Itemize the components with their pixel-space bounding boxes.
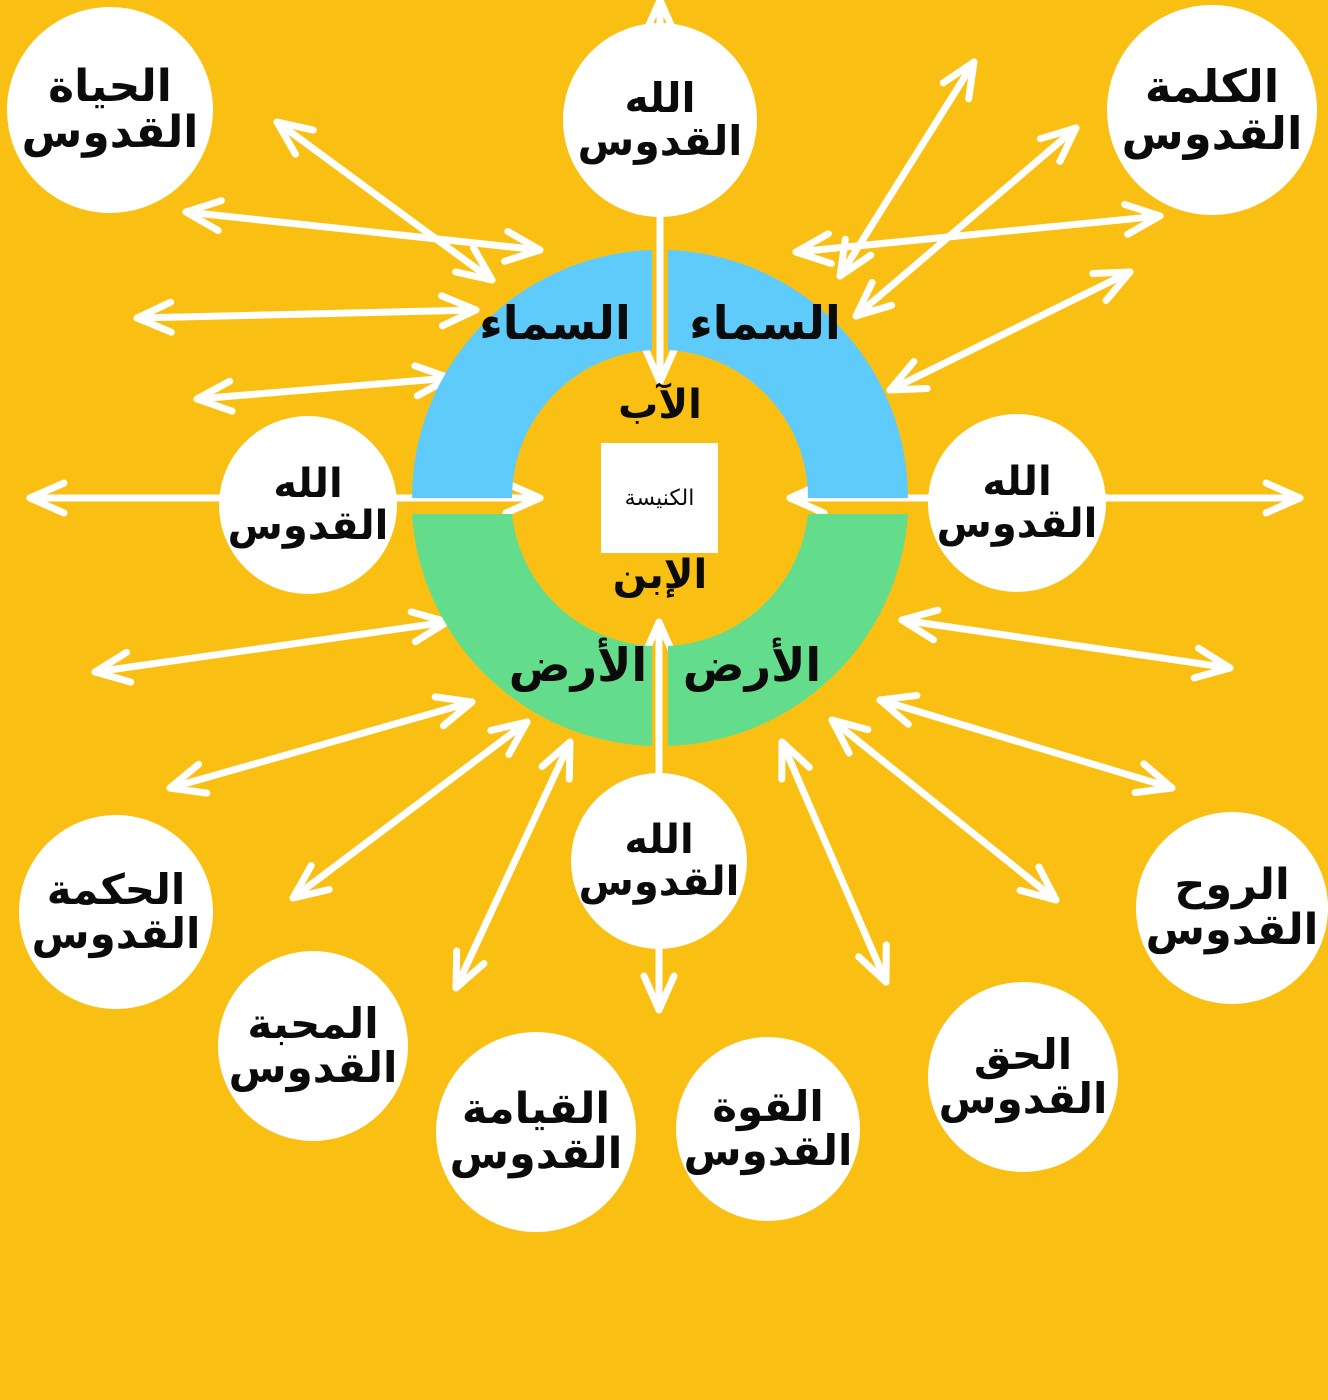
arrow-ne-low2 xyxy=(890,272,1130,390)
node-circle-bottom-right-mid[interactable]: الحقالقدوس xyxy=(928,982,1118,1172)
node-circle-bottom-left-mid[interactable]: المحبةالقدوس xyxy=(218,951,408,1141)
arrow-se-upper xyxy=(902,610,1230,678)
node-label-line2: القدوس xyxy=(228,505,389,547)
node-label-line1: الكلمة xyxy=(1145,63,1279,110)
node-circle-bottom-right-far[interactable]: الروحالقدوس xyxy=(1136,812,1328,1004)
node-label-line1: الله xyxy=(273,463,342,505)
node-label-line2: القدوس xyxy=(450,1132,623,1177)
earth-label-right: الأرض xyxy=(672,638,832,692)
arrow-sw-low xyxy=(293,722,527,898)
father-label: الآب xyxy=(570,382,750,428)
church-label: الكنيسة xyxy=(625,486,695,511)
node-circle-right[interactable]: اللهالقدوس xyxy=(928,414,1106,592)
node-circle-left[interactable]: اللهالقدوس xyxy=(219,416,397,594)
node-label-line2: القدوس xyxy=(1122,110,1303,157)
node-label-line1: الله xyxy=(624,77,695,120)
node-label-line2: القدوس xyxy=(578,120,743,163)
node-label-line1: الحق xyxy=(974,1033,1072,1077)
node-label-line2: القدوس xyxy=(22,110,199,156)
diagram-canvas: السماء السماء الأرض الأرض الآب الإبن الك… xyxy=(0,0,1328,1400)
node-label-line2: القدوس xyxy=(937,503,1098,545)
church-box[interactable]: الكنيسة xyxy=(601,443,718,553)
node-circle-bottom-center-l[interactable]: القيامةالقدوس xyxy=(436,1032,636,1232)
son-label: الإبن xyxy=(570,552,750,598)
node-label-line1: الروح xyxy=(1174,863,1289,908)
node-circle-top-right[interactable]: الكلمةالقدوس xyxy=(1107,5,1317,215)
node-label-line2: القدوس xyxy=(579,861,740,903)
node-label-line1: الله xyxy=(982,461,1051,503)
node-circle-bottom-center-r[interactable]: القوةالقدوس xyxy=(676,1037,860,1221)
node-label-line1: القوة xyxy=(712,1085,824,1129)
node-circle-top-center[interactable]: اللهالقدوس xyxy=(563,23,757,217)
node-label-line1: المحبة xyxy=(247,1002,378,1046)
heaven-label-left: السماء xyxy=(470,296,640,350)
node-circle-bottom-center[interactable]: اللهالقدوس xyxy=(571,773,747,949)
arrow-se-low2 xyxy=(782,742,886,982)
node-circle-top-left[interactable]: الحياةالقدوس xyxy=(7,7,213,213)
arrow-se-mid xyxy=(880,695,1172,792)
node-circle-bottom-left-far[interactable]: الحكمةالقدوس xyxy=(19,815,213,1009)
node-label-line1: الحكمة xyxy=(47,868,186,912)
node-label-line2: القدوس xyxy=(939,1077,1108,1121)
arrow-sw-low2 xyxy=(456,742,570,988)
node-label-line1: الله xyxy=(624,819,693,861)
node-label-line2: القدوس xyxy=(1146,908,1319,953)
node-label-line2: القدوس xyxy=(684,1129,853,1173)
arrow-sw-upper xyxy=(95,612,447,682)
node-label-line2: القدوس xyxy=(32,912,201,956)
heaven-label-right: السماء xyxy=(680,296,850,350)
node-label-line1: القيامة xyxy=(462,1087,610,1132)
earth-label-left: الأرض xyxy=(498,638,658,692)
node-label-line1: الحياة xyxy=(48,64,172,110)
node-label-line2: القدوس xyxy=(229,1046,398,1090)
